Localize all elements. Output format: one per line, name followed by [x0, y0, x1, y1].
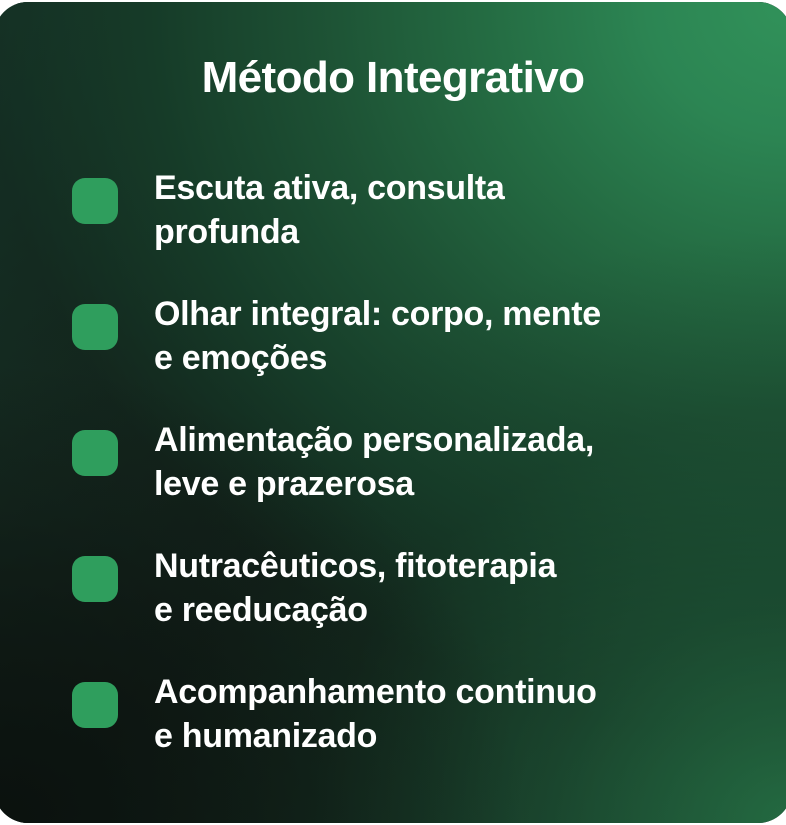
list-item: Olhar integral: corpo, mente e emoções: [72, 292, 752, 380]
list-item-text: Alimentação personalizada, leve e prazer…: [154, 418, 594, 506]
list-item-text: Olhar integral: corpo, mente e emoções: [154, 292, 601, 380]
list-item-text: Nutracêuticos, fitoterapia e reeducação: [154, 544, 556, 632]
rounded-square-bullet-icon: [72, 430, 118, 476]
list-item-line: profunda: [154, 210, 505, 254]
list-item-line: Escuta ativa, consulta: [154, 166, 505, 210]
list-item-line: e humanizado: [154, 714, 597, 758]
rounded-square-bullet-icon: [72, 682, 118, 728]
list-item-text: Acompanhamento continuo e humanizado: [154, 670, 597, 758]
rounded-square-bullet-icon: [72, 178, 118, 224]
list-item-text: Escuta ativa, consulta profunda: [154, 166, 505, 254]
list-item-line: e reeducação: [154, 588, 556, 632]
metodo-integrativo-card: Método Integrativo Escuta ativa, consult…: [0, 2, 786, 823]
list-item: Escuta ativa, consulta profunda: [72, 166, 752, 254]
list-item-line: Olhar integral: corpo, mente: [154, 292, 601, 336]
list-item: Acompanhamento continuo e humanizado: [72, 670, 752, 758]
list-item-line: e emoções: [154, 336, 601, 380]
list-item-line: leve e prazerosa: [154, 462, 594, 506]
card-title: Método Integrativo: [0, 54, 786, 102]
benefits-list: Escuta ativa, consulta profunda Olhar in…: [72, 166, 752, 758]
rounded-square-bullet-icon: [72, 556, 118, 602]
list-item-line: Nutracêuticos, fitoterapia: [154, 544, 556, 588]
list-item: Alimentação personalizada, leve e prazer…: [72, 418, 752, 506]
card-content: Método Integrativo Escuta ativa, consult…: [0, 2, 786, 823]
list-item-line: Alimentação personalizada,: [154, 418, 594, 462]
list-item-line: Acompanhamento continuo: [154, 670, 597, 714]
rounded-square-bullet-icon: [72, 304, 118, 350]
screenshot-canvas: Método Integrativo Escuta ativa, consult…: [0, 0, 786, 825]
list-item: Nutracêuticos, fitoterapia e reeducação: [72, 544, 752, 632]
